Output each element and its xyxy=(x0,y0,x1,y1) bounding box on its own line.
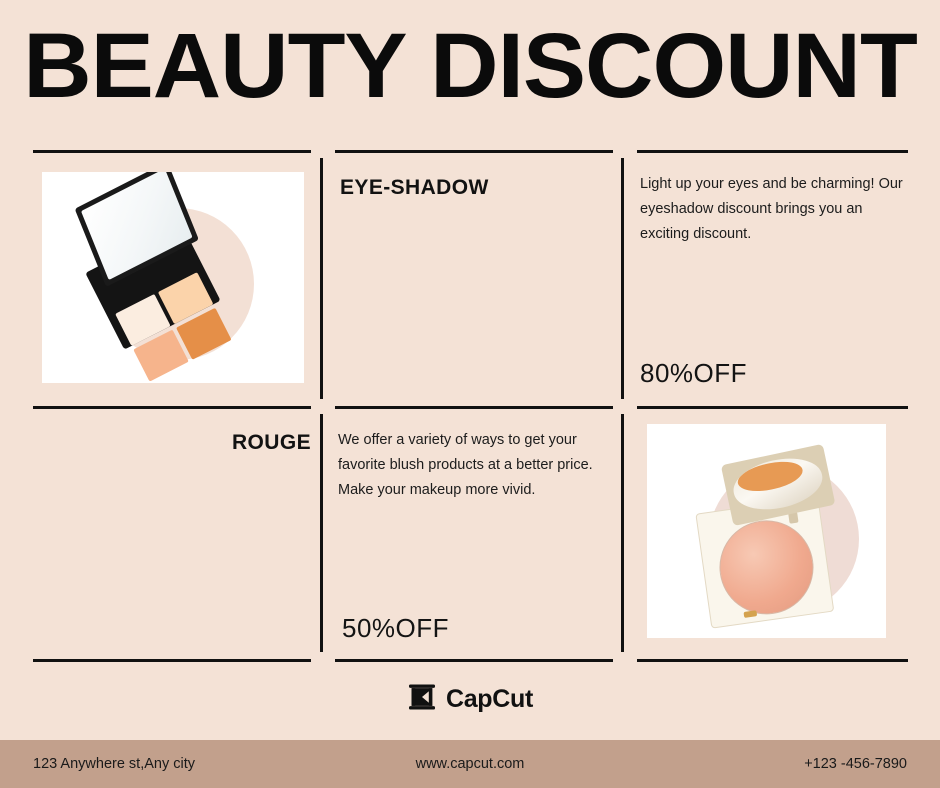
page-title: BEAUTY DISCOUNT xyxy=(0,14,940,118)
divider-row2-top-center xyxy=(335,406,613,409)
eyeshadow-palette-graphic xyxy=(65,179,226,340)
footer-website: www.capcut.com xyxy=(0,756,940,772)
divider-row1-vertical-left xyxy=(320,158,323,399)
eyeshadow-discount-badge: 80%OFF xyxy=(640,358,747,389)
divider-row2-top-right xyxy=(637,406,908,409)
divider-row1-top-left xyxy=(33,150,311,153)
footer-phone: +123 -456-7890 xyxy=(804,756,907,772)
rouge-description: We offer a variety of ways to get your f… xyxy=(338,428,604,503)
eyeshadow-heading: EYE-SHADOW xyxy=(340,176,489,200)
capcut-logo-icon xyxy=(407,684,437,715)
blush-product-image xyxy=(647,424,886,638)
blush-compact-graphic xyxy=(689,451,845,618)
eyeshadow-description: Light up your eyes and be charming! Our … xyxy=(640,172,908,247)
divider-row2-bottom-right xyxy=(637,659,908,662)
compact-mirror xyxy=(729,451,827,517)
rouge-heading: ROUGE xyxy=(33,431,311,455)
footer-bar: 123 Anywhere st,Any city www.capcut.com … xyxy=(0,740,940,788)
divider-row2-top-left xyxy=(33,406,311,409)
divider-row2-bottom-center xyxy=(335,659,613,662)
eyeshadow-product-image xyxy=(42,172,304,383)
mirror-reflection xyxy=(735,457,805,496)
divider-row2-vertical-right xyxy=(621,414,624,652)
divider-row1-top-right xyxy=(637,150,908,153)
divider-row2-bottom-left xyxy=(33,659,311,662)
divider-row1-top-center xyxy=(335,150,613,153)
poster-canvas: BEAUTY DISCOUNT EYE-SHADOW Light up your… xyxy=(0,0,940,788)
rouge-discount-badge: 50%OFF xyxy=(342,613,449,644)
divider-row1-vertical-right xyxy=(621,158,624,399)
divider-row2-vertical-left xyxy=(320,414,323,652)
capcut-wordmark: CapCut xyxy=(446,685,533,714)
capcut-logo: CapCut xyxy=(0,684,940,715)
